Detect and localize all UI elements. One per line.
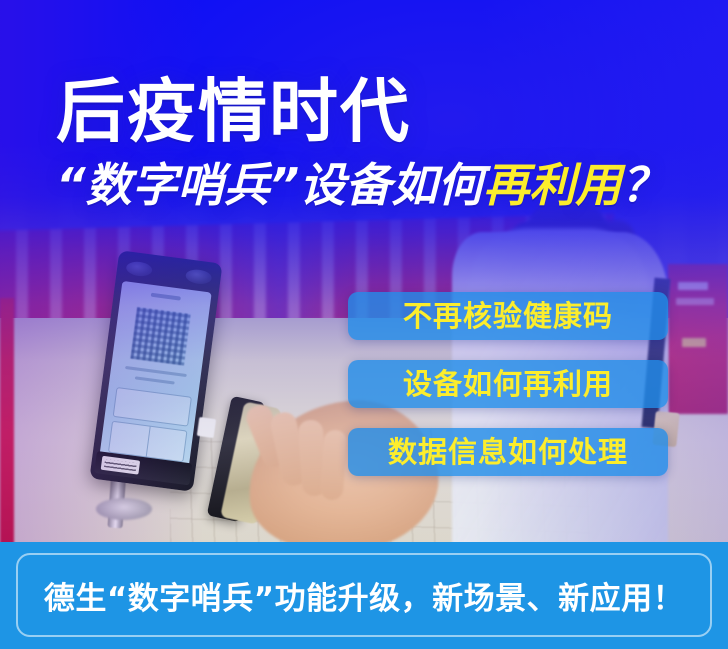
topic-pill-health-code[interactable]: 不再核验健康码 — [348, 292, 668, 340]
bottom-banner: 德生“数字哨兵”功能升级，新场景、新应用！ — [0, 542, 728, 649]
qr-code-icon — [130, 307, 190, 366]
kiosk-screen-text-line — [125, 366, 187, 377]
kiosk-screen — [100, 281, 212, 467]
bottom-banner-frame: 德生“数字哨兵”功能升级，新场景、新应用！ — [16, 553, 712, 637]
kiosk-base — [96, 498, 152, 520]
bottom-banner-text: 德生“数字哨兵”功能升级，新场景、新应用！ — [44, 573, 684, 618]
scene-red-pillar — [0, 298, 14, 545]
topic-pill-list: 不再核验健康码 设备如何再利用 数据信息如何处理 — [348, 292, 668, 476]
camera-lens-icon — [125, 260, 153, 277]
camera-lens-icon — [185, 268, 213, 285]
kiosk-screen-header — [151, 293, 181, 301]
kiosk-white-tag — [197, 417, 216, 438]
sign-text-line — [676, 298, 714, 305]
topic-pill-label: 设备如何再利用 — [403, 370, 613, 399]
topic-pill-label: 数据信息如何处理 — [388, 438, 628, 467]
topic-pill-label: 不再核验健康码 — [403, 302, 613, 331]
sign-text-line — [678, 282, 708, 290]
sign-text-line — [682, 338, 706, 347]
pink-wall-sign — [668, 264, 728, 414]
kiosk-screen-button — [113, 387, 192, 427]
kiosk-screen-text-line — [135, 376, 175, 384]
finger — [320, 429, 348, 500]
poster-root: 后疫情时代 “数字哨兵”设备如何再利用？ 不再核验健康码 设备如何再利用 数据信… — [0, 0, 728, 649]
topic-pill-device-reuse[interactable]: 设备如何再利用 — [348, 360, 668, 408]
topic-pill-data-handling[interactable]: 数据信息如何处理 — [348, 428, 668, 476]
